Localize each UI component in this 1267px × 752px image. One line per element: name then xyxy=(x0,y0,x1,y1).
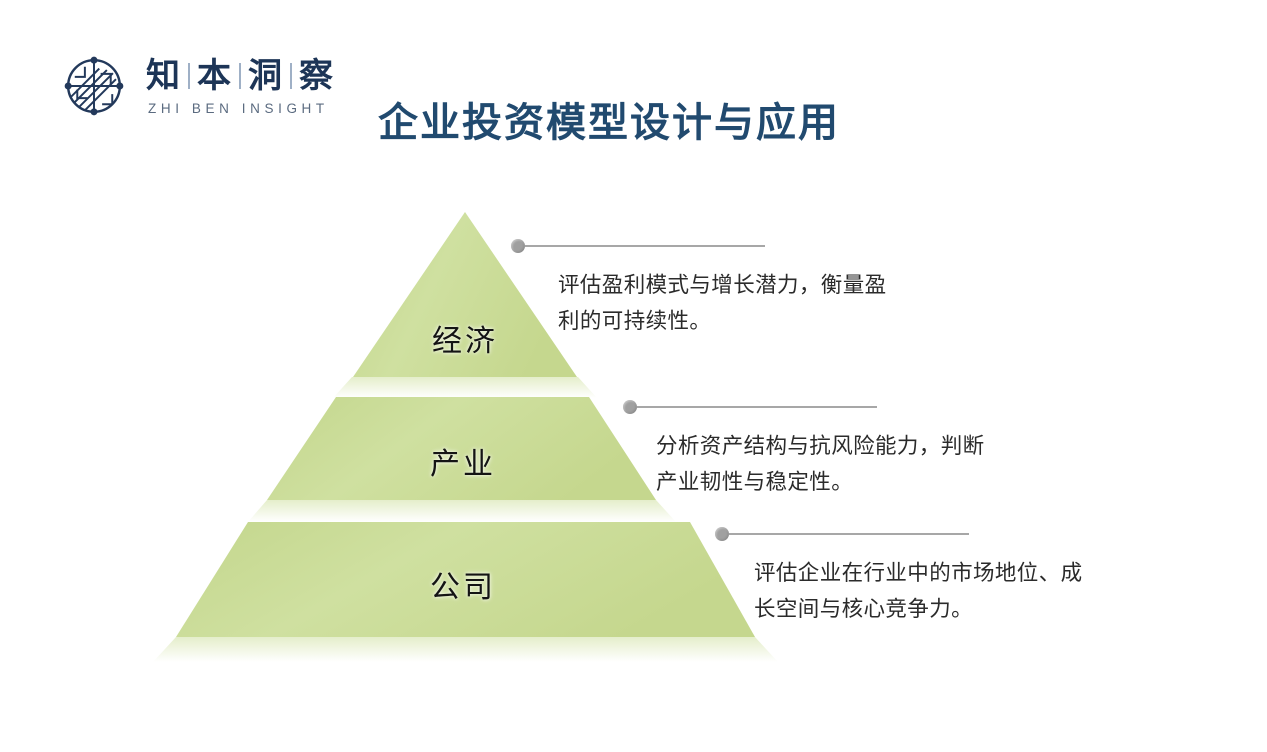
pyramid-tier-1-shadow xyxy=(333,377,597,398)
circuit-circle-emblem-icon xyxy=(56,48,132,124)
slide-canvas: 知 本 洞 察 ZHI BEN INSIGHT 企业投资模型设计与应用 xyxy=(0,0,1267,752)
pyramid-tier-2 xyxy=(267,397,656,500)
brand-char-1: 知 xyxy=(146,59,181,93)
brand-wordmark: 知 本 洞 察 ZHI BEN INSIGHT xyxy=(146,57,334,116)
callout-dot-icon xyxy=(715,527,729,541)
brand-name-en: ZHI BEN INSIGHT xyxy=(146,95,334,116)
callout-tier-3-leader xyxy=(715,527,1145,541)
callout-tier-1-leader xyxy=(511,239,941,253)
brand-logo: 知 本 洞 察 ZHI BEN INSIGHT xyxy=(56,48,334,124)
pyramid-tier-3-shadow xyxy=(153,637,778,662)
callout-line xyxy=(525,245,765,247)
page-title: 企业投资模型设计与应用 xyxy=(378,100,840,146)
brand-name-cn: 知 本 洞 察 xyxy=(146,59,334,93)
callout-line xyxy=(637,406,877,408)
callout-tier-2-leader xyxy=(623,400,1053,414)
pyramid-tier-2-shadow xyxy=(248,500,676,522)
brand-char-2: 本 xyxy=(197,59,232,93)
callout-tier-2-text: 分析资产结构与抗风险能力，判断 产业韧性与稳定性。 xyxy=(656,428,1053,500)
callout-tier-3-text: 评估企业在行业中的市场地位、成 长空间与核心竞争力。 xyxy=(754,555,1145,627)
brand-char-4: 察 xyxy=(299,59,334,93)
pyramid-tier-3-label: 公司 xyxy=(430,562,496,606)
pyramid-tier-1-label: 经济 xyxy=(432,316,498,360)
pyramid-tier-2-label: 产业 xyxy=(430,439,496,483)
callout-tier-2: 分析资产结构与抗风险能力，判断 产业韧性与稳定性。 xyxy=(623,400,1053,500)
callout-dot-icon xyxy=(623,400,637,414)
brand-separator-2 xyxy=(239,63,241,89)
callout-line xyxy=(729,533,969,535)
callout-tier-1-text: 评估盈利模式与增长潜力，衡量盈 利的可持续性。 xyxy=(558,267,941,339)
callout-tier-3: 评估企业在行业中的市场地位、成 长空间与核心竞争力。 xyxy=(715,527,1145,627)
callout-tier-1: 评估盈利模式与增长潜力，衡量盈 利的可持续性。 xyxy=(511,239,941,339)
brand-char-3: 洞 xyxy=(248,59,283,93)
brand-separator-3 xyxy=(290,63,292,89)
callout-dot-icon xyxy=(511,239,525,253)
brand-separator-1 xyxy=(188,63,190,89)
pyramid-tier-3 xyxy=(176,522,755,637)
